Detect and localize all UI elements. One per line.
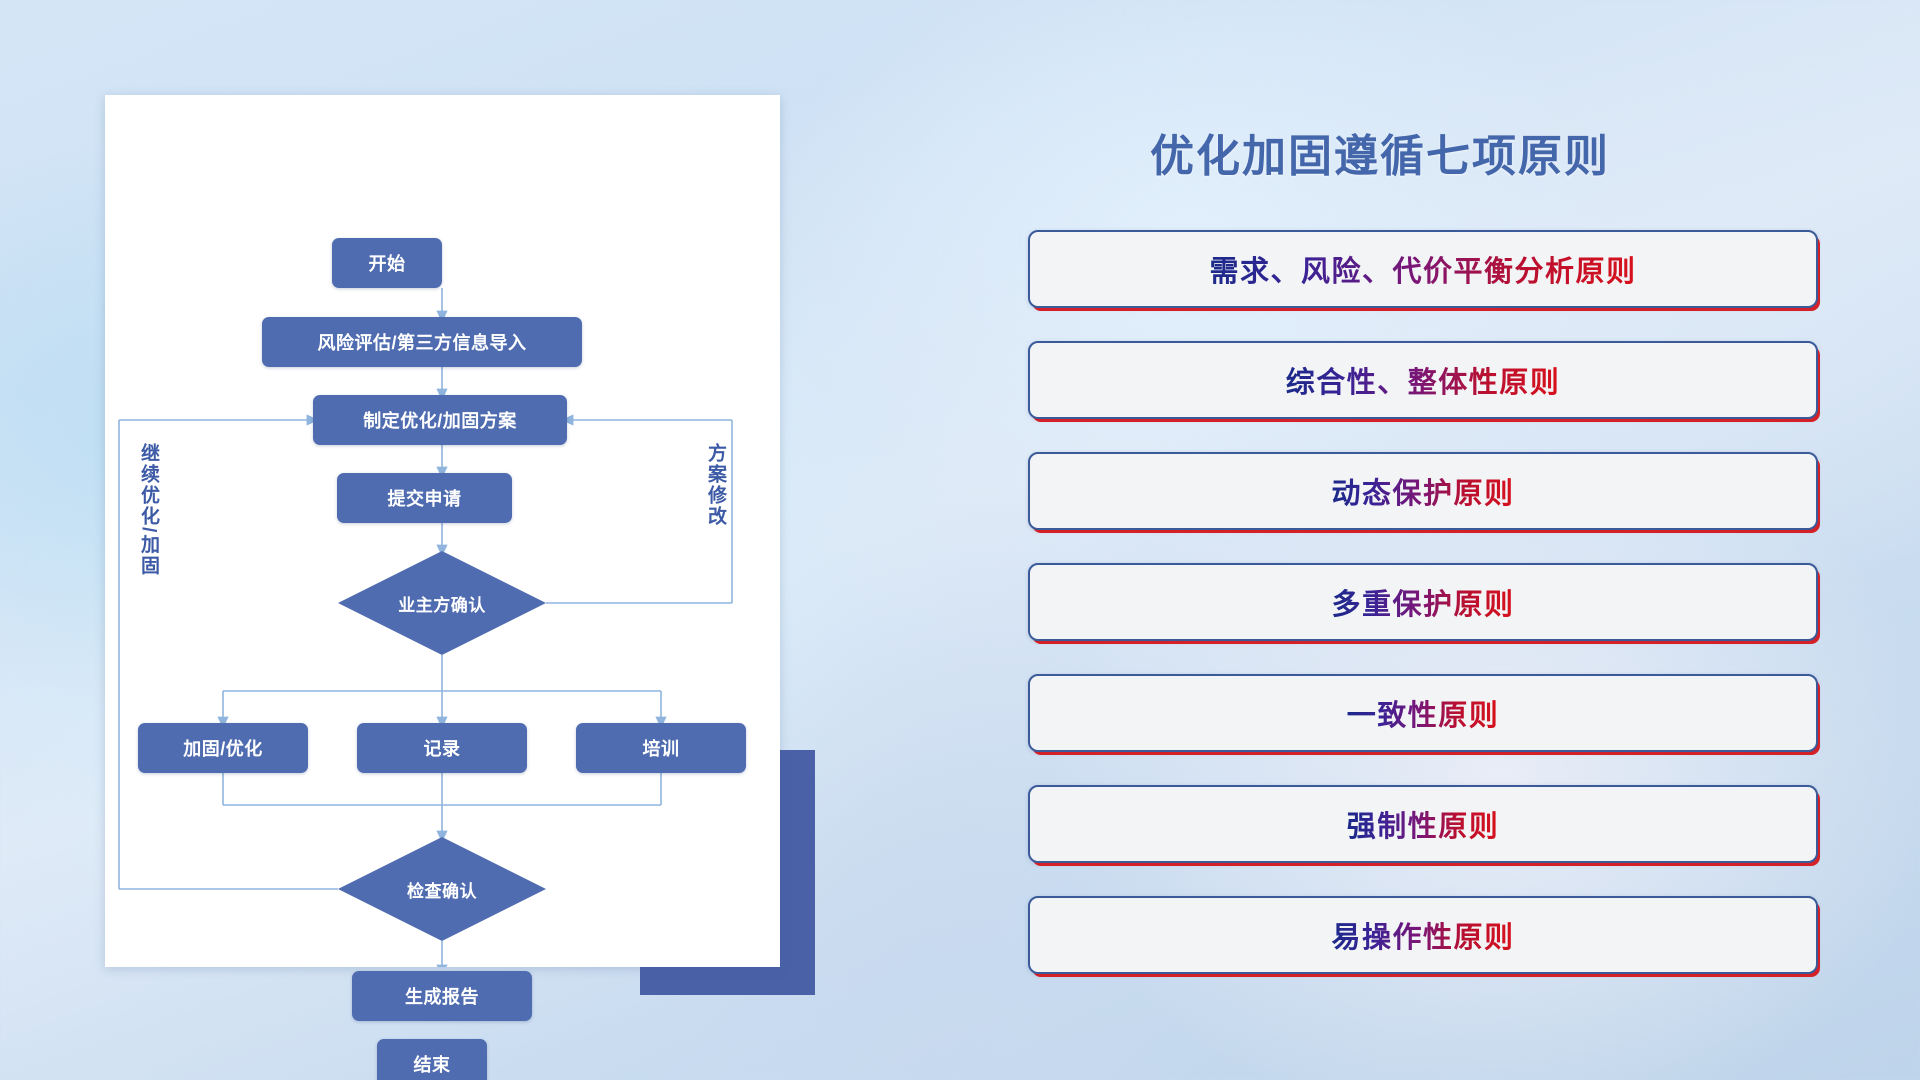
flow-node-owner-confirm[interactable]: 业主方确认 xyxy=(338,551,546,655)
flow-node-label: 加固/优化 xyxy=(183,735,263,761)
flow-node-generate-report[interactable]: 生成报告 xyxy=(352,971,532,1021)
flow-node-label: 业主方确认 xyxy=(398,591,486,616)
flow-node-label: 记录 xyxy=(424,735,461,761)
flow-node-end[interactable]: 结束 xyxy=(377,1039,487,1080)
flowchart-card: 开始 风险评估/第三方信息导入 制定优化/加固方案 提交申请 业主方确认 加固/… xyxy=(105,95,780,967)
flow-node-start[interactable]: 开始 xyxy=(332,238,442,288)
principle-label: 综合性、整体性原则 xyxy=(1286,359,1561,401)
flow-node-record[interactable]: 记录 xyxy=(357,723,527,773)
principle-item[interactable]: 综合性、整体性原则 xyxy=(1028,341,1818,419)
flow-node-label: 风险评估/第三方信息导入 xyxy=(318,329,527,355)
principle-item[interactable]: 需求、风险、代价平衡分析原则 xyxy=(1028,230,1818,308)
principle-item[interactable]: 强制性原则 xyxy=(1028,785,1818,863)
edge-label-continue-optimize: 继续优化/加固 xyxy=(138,443,158,576)
flowchart-diagram: 开始 风险评估/第三方信息导入 制定优化/加固方案 提交申请 业主方确认 加固/… xyxy=(105,95,780,967)
flow-node-label: 检查确认 xyxy=(407,877,477,902)
flow-node-label: 提交申请 xyxy=(388,485,462,511)
flow-node-label: 培训 xyxy=(643,735,680,761)
principle-label: 强制性原则 xyxy=(1347,803,1500,845)
flow-node-label: 开始 xyxy=(369,250,406,276)
principle-label: 易操作性原则 xyxy=(1331,914,1514,956)
principle-item[interactable]: 一致性原则 xyxy=(1028,674,1818,752)
principle-label: 动态保护原则 xyxy=(1331,470,1514,512)
principles-panel: 优化加固遵循七项原则 需求、风险、代价平衡分析原则 综合性、整体性原则 动态保护… xyxy=(1010,95,1830,995)
edge-label-plan-revision: 方案修改 xyxy=(705,443,725,527)
flow-node-make-plan[interactable]: 制定优化/加固方案 xyxy=(313,395,567,445)
principle-label: 需求、风险、代价平衡分析原则 xyxy=(1209,248,1636,290)
flow-node-label: 制定优化/加固方案 xyxy=(363,407,517,433)
flow-node-submit-application[interactable]: 提交申请 xyxy=(337,473,512,523)
principle-item[interactable]: 多重保护原则 xyxy=(1028,563,1818,641)
page-title: 优化加固遵循七项原则 xyxy=(1150,120,1610,184)
flow-node-reinforce-optimize[interactable]: 加固/优化 xyxy=(138,723,308,773)
flow-node-label: 生成报告 xyxy=(405,983,479,1009)
flow-node-label: 结束 xyxy=(414,1051,451,1077)
principle-item[interactable]: 动态保护原则 xyxy=(1028,452,1818,530)
principle-label: 一致性原则 xyxy=(1347,692,1500,734)
flow-node-check-confirm[interactable]: 检查确认 xyxy=(338,837,546,941)
principles-list: 需求、风险、代价平衡分析原则 综合性、整体性原则 动态保护原则 多重保护原则 一… xyxy=(1028,230,1818,1007)
flow-node-training[interactable]: 培训 xyxy=(576,723,746,773)
principle-label: 多重保护原则 xyxy=(1331,581,1514,623)
flow-node-risk-assessment[interactable]: 风险评估/第三方信息导入 xyxy=(262,317,582,367)
principle-item[interactable]: 易操作性原则 xyxy=(1028,896,1818,974)
